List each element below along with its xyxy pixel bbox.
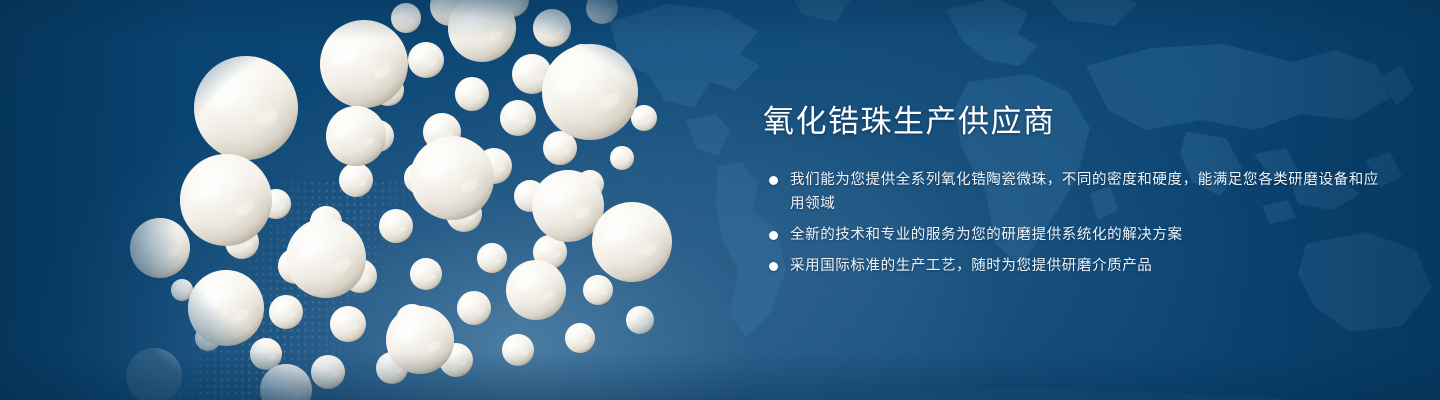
hero-banner: 氧化锆珠生产供应商 我们能为您提供全系列氧化锆陶瓷微珠，不同的密度和硬度，能满足… xyxy=(0,0,1440,400)
list-item-text: 全新的技术和专业的服务为您的研磨提供系统化的解决方案 xyxy=(790,227,1183,243)
bullet-dot-icon xyxy=(769,176,778,185)
banner-content: 氧化锆珠生产供应商 我们能为您提供全系列氧化锆陶瓷微珠，不同的密度和硬度，能满足… xyxy=(763,104,1383,278)
list-item: 全新的技术和专业的服务为您的研磨提供系统化的解决方案 xyxy=(763,223,1383,247)
list-item-text: 采用国际标准的生产工艺，随时为您提供研磨介质产品 xyxy=(790,258,1152,274)
feature-list: 我们能为您提供全系列氧化锆陶瓷微珠，不同的密度和硬度，能满足您各类研磨设备和应用… xyxy=(763,168,1383,278)
page-title: 氧化锆珠生产供应商 xyxy=(763,104,1383,140)
list-item: 我们能为您提供全系列氧化锆陶瓷微珠，不同的密度和硬度，能满足您各类研磨设备和应用… xyxy=(763,168,1383,216)
bullet-dot-icon xyxy=(769,262,778,271)
list-item-text: 我们能为您提供全系列氧化锆陶瓷微珠，不同的密度和硬度，能满足您各类研磨设备和应用… xyxy=(790,172,1379,212)
list-item: 采用国际标准的生产工艺，随时为您提供研磨介质产品 xyxy=(763,254,1383,278)
bullet-dot-icon xyxy=(769,231,778,240)
